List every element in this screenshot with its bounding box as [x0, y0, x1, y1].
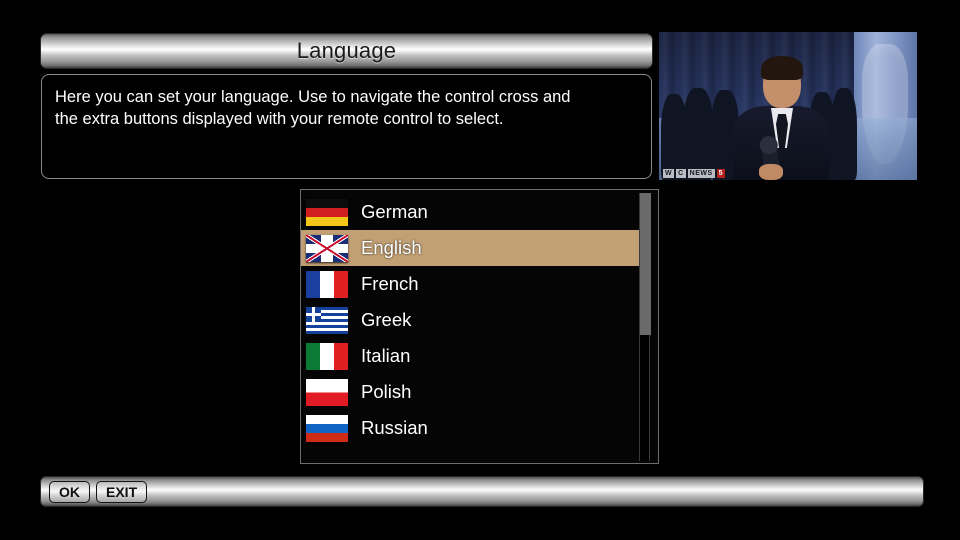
title-bar: Language: [40, 33, 653, 69]
language-list-item[interactable]: Italian: [301, 338, 642, 374]
flag-poland-icon: [306, 379, 348, 406]
video-crowd-person: [831, 88, 857, 180]
language-list-item[interactable]: French: [301, 266, 642, 302]
page-title: Language: [297, 40, 396, 62]
list-scrollbar-track[interactable]: [639, 193, 650, 461]
flag-greece-icon: [306, 307, 348, 334]
video-crowd-person: [683, 88, 713, 180]
language-list-item-label: Polish: [361, 383, 411, 402]
channel-logo-bug: W C NEWS 5: [663, 169, 725, 178]
video-subject-hair: [761, 56, 803, 80]
channel-logo-part: NEWS: [688, 169, 715, 178]
flag-france-icon: [306, 271, 348, 298]
flag-italy-icon: [306, 343, 348, 370]
language-list-item-label: Italian: [361, 347, 410, 366]
video-preview[interactable]: W C NEWS 5: [659, 32, 917, 180]
language-list-item[interactable]: Greek: [301, 302, 642, 338]
language-list-panel: GermanEnglishFrenchGreekItalianPolishRus…: [300, 189, 659, 464]
help-text: Here you can set your language. Use to n…: [55, 87, 637, 131]
ok-button[interactable]: OK: [49, 481, 90, 503]
flag-russia-icon: [306, 415, 348, 442]
help-description-box: Here you can set your language. Use to n…: [41, 74, 652, 179]
language-list: GermanEnglishFrenchGreekItalianPolishRus…: [301, 194, 642, 446]
language-list-item[interactable]: Russian: [301, 410, 642, 446]
channel-logo-part: C: [676, 169, 686, 178]
language-list-item[interactable]: Polish: [301, 374, 642, 410]
language-list-item-label: Greek: [361, 311, 411, 330]
tv-settings-screen: Language Here you can set your language.…: [0, 0, 960, 540]
list-scrollbar-thumb[interactable]: [640, 193, 651, 335]
channel-logo-part: 5: [717, 169, 725, 178]
exit-button[interactable]: EXIT: [96, 481, 147, 503]
language-list-item-label: English: [361, 239, 422, 258]
flag-germany-icon: [306, 199, 348, 226]
language-list-item-label: French: [361, 275, 419, 294]
video-subject-hand: [759, 164, 783, 180]
language-list-item-label: Russian: [361, 419, 428, 438]
channel-logo-part: W: [663, 169, 674, 178]
language-list-item[interactable]: German: [301, 194, 642, 230]
language-list-item-label: German: [361, 203, 428, 222]
language-list-item[interactable]: English: [301, 230, 642, 266]
bottom-button-bar: OK EXIT: [40, 476, 924, 507]
flag-united-kingdom-icon: [306, 235, 348, 262]
ok-button-label: OK: [59, 485, 80, 499]
exit-button-label: EXIT: [106, 485, 137, 499]
